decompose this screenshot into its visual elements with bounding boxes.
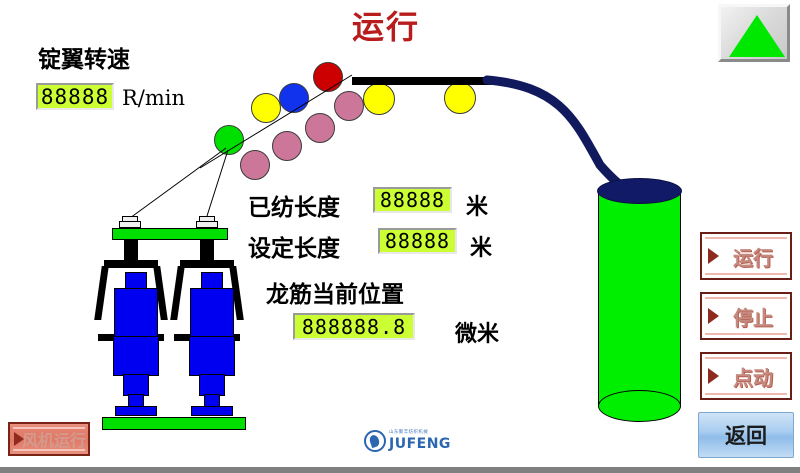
ball-red [313, 62, 343, 92]
brand-name: JUFENG [389, 437, 451, 451]
ball-pink-2 [272, 131, 302, 161]
rib-position-unit: 微米 [455, 316, 499, 348]
brand-logo: 山东聚丰纺织机械 JUFENG [364, 430, 451, 452]
play-arrow-icon [708, 308, 719, 324]
jufeng-swirl-icon [364, 430, 386, 452]
bobbin-left-upper [114, 288, 158, 338]
spun-length-label: 已纺长度 [248, 188, 340, 222]
play-arrow-icon [708, 368, 719, 384]
bobbin-right-taper [199, 374, 225, 396]
yarn-hose [487, 80, 634, 193]
bobbin-right-lower [189, 336, 235, 376]
ball-yellow-2 [363, 83, 395, 115]
jog-button-label: 点动 [719, 362, 773, 391]
thread-line-right [207, 150, 228, 216]
bobbin-left-foot [115, 406, 157, 416]
spindle-speed-label: 锭翼转速 [38, 40, 130, 74]
spindle-speed-unit: R/min [122, 86, 185, 110]
brand-logo-text: 山东聚丰纺织机械 JUFENG [389, 431, 451, 451]
bolt-base-left [119, 221, 141, 228]
spun-length-value[interactable]: 88888 [373, 187, 452, 213]
set-length-label: 设定长度 [248, 229, 340, 263]
jog-button[interactable]: 点动 [700, 352, 792, 400]
bobbin-right-upper [190, 288, 234, 338]
fan-run-button[interactable]: 风机运行 [8, 422, 90, 456]
fan-run-button-label: 风机运行 [12, 427, 86, 451]
stop-button-label: 停止 [719, 302, 773, 331]
bobbin-left-taper [123, 374, 149, 396]
upper-rail [112, 228, 228, 240]
set-length-unit: 米 [470, 230, 492, 262]
ball-pink-4 [334, 91, 364, 121]
triangle-up-icon [729, 15, 785, 57]
status-indicator-panel[interactable] [718, 4, 790, 62]
bolt-base-right [196, 221, 218, 228]
set-length-value[interactable]: 88888 [378, 228, 457, 254]
roving-can-body [598, 192, 681, 407]
flyer-arm-right-a [170, 266, 185, 320]
ball-pink-1 [240, 150, 270, 180]
rib-position-label: 龙筋当前位置 [266, 275, 404, 309]
stop-button[interactable]: 停止 [700, 292, 792, 340]
ball-green [214, 125, 244, 155]
ball-yellow-3 [444, 82, 476, 114]
thread-line-left [130, 148, 226, 218]
spindle-speed-value[interactable]: 88888 [36, 83, 114, 110]
roving-can-bottom [598, 390, 681, 422]
bobbin-right-foot [191, 406, 233, 416]
ball-yellow-1 [251, 93, 281, 123]
lower-rail [102, 417, 246, 430]
play-arrow-icon [708, 248, 719, 264]
bobbin-left-lower [113, 336, 159, 376]
spindle-right-yoke [180, 260, 234, 268]
spun-length-unit: 米 [466, 189, 488, 221]
page-title: 运行 [326, 2, 446, 48]
run-button[interactable]: 运行 [700, 232, 792, 280]
spindle-left-yoke [104, 260, 158, 268]
roving-can-top [597, 178, 682, 204]
ball-blue [279, 83, 309, 113]
back-button[interactable]: 返回 [698, 412, 794, 458]
rib-position-value[interactable]: 888888.8 [293, 313, 415, 340]
run-button-label: 运行 [719, 242, 773, 271]
ball-pink-3 [305, 113, 335, 143]
flyer-arm-left-a [94, 266, 109, 320]
hmi-screen: 运行 锭翼转速 88888 R/min 已纺长度 88888 米 设定长度 88… [0, 0, 800, 473]
